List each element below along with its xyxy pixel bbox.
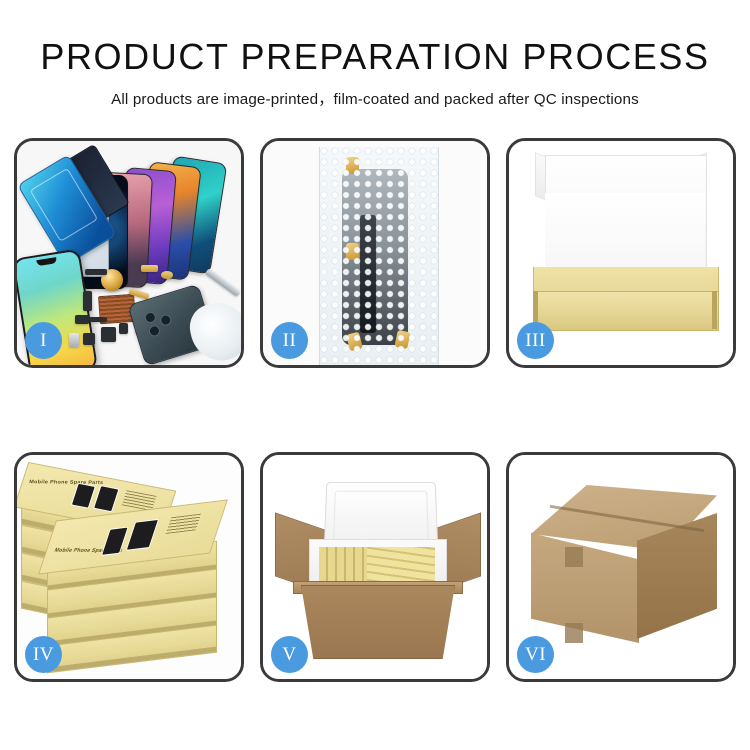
page-header: PRODUCT PREPARATION PROCESS All products… xyxy=(0,0,750,109)
step-badge-1: I xyxy=(25,322,62,359)
small-part xyxy=(161,271,173,279)
carton-front-face xyxy=(301,585,455,659)
small-part xyxy=(69,333,79,347)
small-part xyxy=(119,323,128,334)
carton-tape-patch xyxy=(565,623,583,643)
carton-tape-patch xyxy=(565,547,583,567)
bubble-texture xyxy=(320,147,438,365)
box-edge xyxy=(48,647,216,673)
process-step-4[interactable]: Mobile Phone Spare Parts Mobile Phone Sp… xyxy=(14,452,244,682)
camera-lens-icon xyxy=(143,311,157,325)
product-photo-on-box xyxy=(101,527,129,556)
step-badge-4: IV xyxy=(25,636,62,673)
product-photo-on-box xyxy=(126,519,160,551)
small-part xyxy=(141,265,158,272)
box-edge-shadow xyxy=(712,291,717,329)
process-step-grid: I II xyxy=(14,138,736,682)
product-photo-on-box xyxy=(71,483,96,509)
product-photo-on-box xyxy=(93,485,120,512)
process-step-2[interactable]: II xyxy=(260,138,490,368)
small-part xyxy=(83,291,92,311)
camera-lens-icon xyxy=(148,324,162,338)
foam-sheet xyxy=(545,193,705,275)
small-part xyxy=(83,333,95,345)
process-step-3[interactable]: III xyxy=(506,138,736,368)
page-title: PRODUCT PREPARATION PROCESS xyxy=(0,38,750,76)
inner-box-side xyxy=(533,267,719,293)
spec-lines xyxy=(166,514,202,534)
inner-box-front xyxy=(533,291,719,331)
step-badge-5: V xyxy=(271,636,308,673)
step-badge-6: VI xyxy=(517,636,554,673)
process-step-1[interactable]: I xyxy=(14,138,244,368)
process-step-5[interactable]: V xyxy=(260,452,490,682)
small-part xyxy=(75,315,89,324)
page-subtitle: All products are image-printed，film-coat… xyxy=(0,87,750,109)
small-part xyxy=(101,327,116,342)
small-part xyxy=(85,269,107,275)
process-step-6[interactable]: VI xyxy=(506,452,736,682)
camera-lens-icon xyxy=(159,313,173,327)
bubble-wrap-bag xyxy=(319,147,439,365)
step-badge-3: III xyxy=(517,322,554,359)
small-part xyxy=(89,317,107,322)
step-badge-2: II xyxy=(271,322,308,359)
